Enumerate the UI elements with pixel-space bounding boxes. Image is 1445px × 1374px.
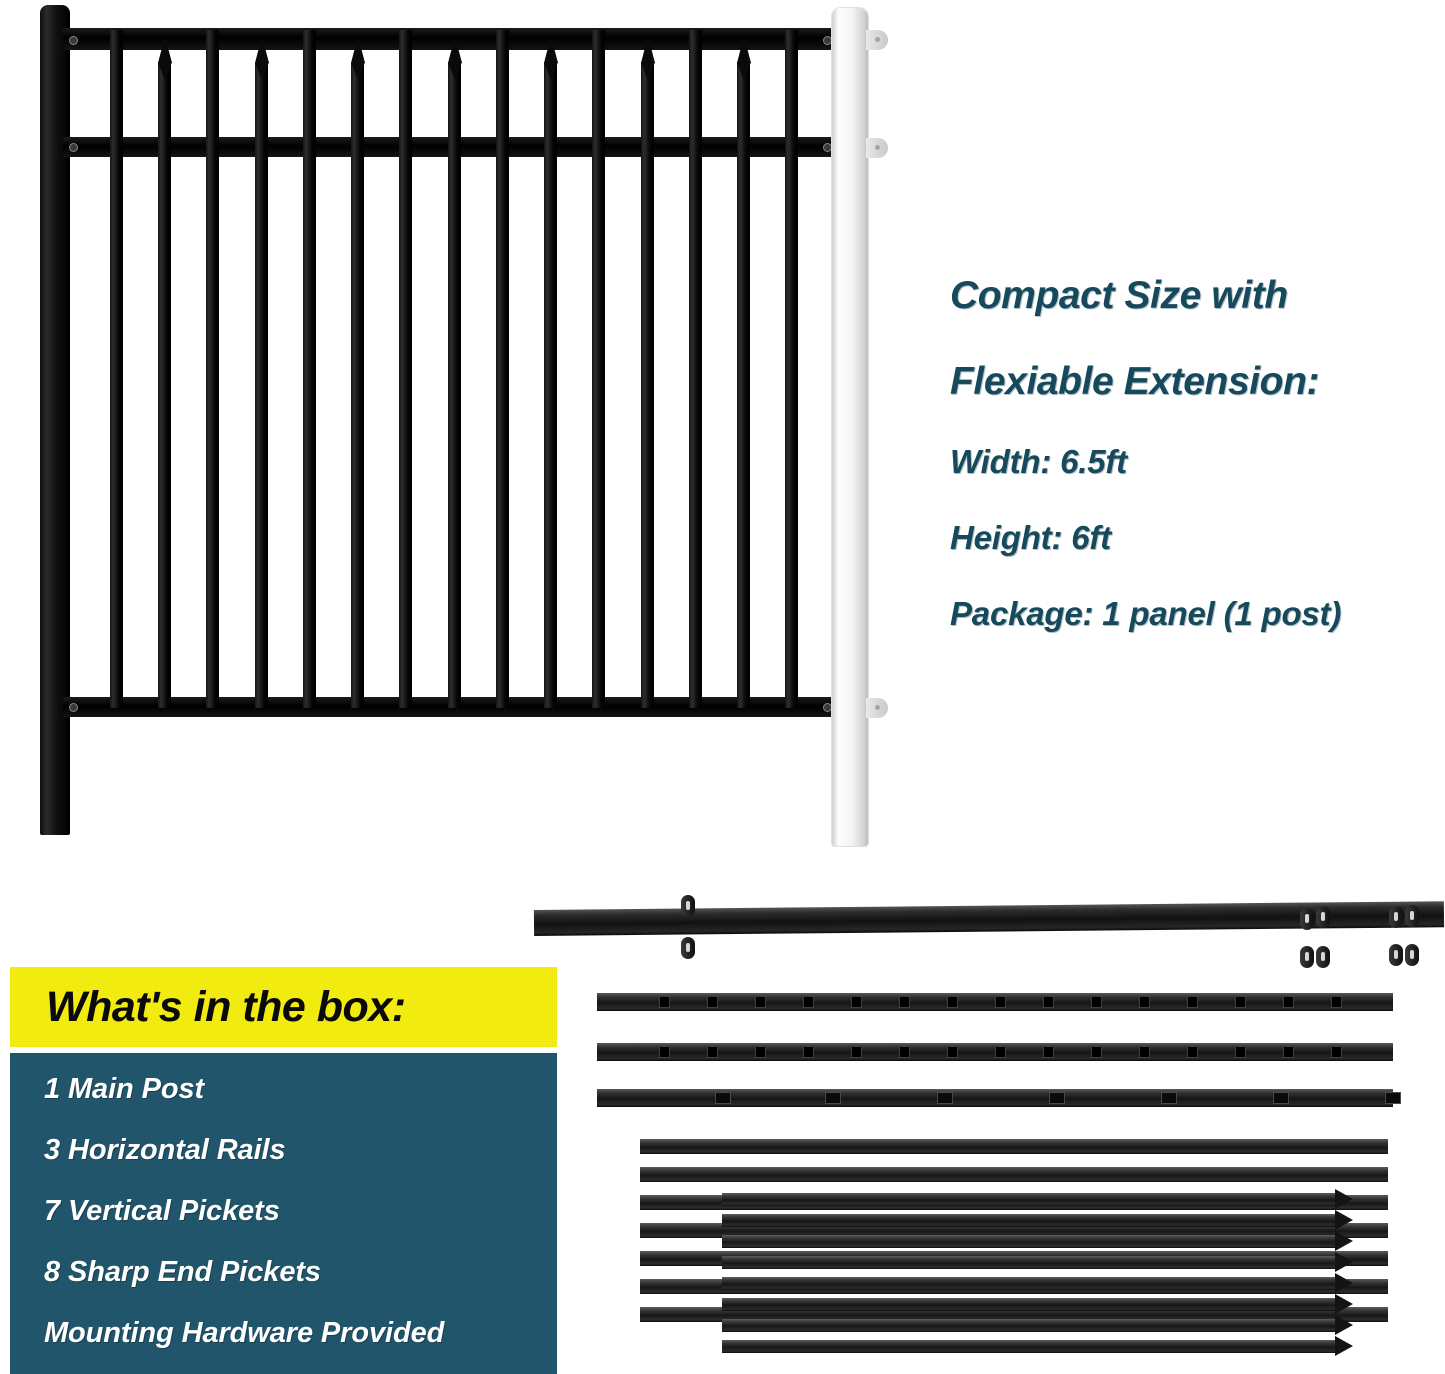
fence-picket bbox=[303, 30, 316, 708]
spec-heading-line-1: Compact Size with bbox=[950, 276, 1420, 315]
fence-spear-picket bbox=[544, 62, 557, 708]
fence-picket bbox=[206, 30, 219, 708]
size-spec-block: Compact Size with Flexiable Extension: W… bbox=[950, 276, 1420, 630]
fence-spear-picket bbox=[448, 62, 461, 708]
part-sharp-end-picket bbox=[722, 1193, 1336, 1206]
product-hero-section: Compact Size with Flexiable Extension: W… bbox=[0, 0, 1445, 880]
whats-in-the-box-title: What's in the box: bbox=[46, 983, 406, 1032]
post-mounting-ear bbox=[866, 698, 888, 718]
assembled-fence-panel bbox=[0, 0, 900, 870]
spec-height: Height: 6ft bbox=[950, 521, 1420, 554]
box-item-mounting-hardware: Mounting Hardware Provided bbox=[44, 1319, 557, 1348]
spec-package: Package: 1 panel (1 post) bbox=[950, 597, 1420, 630]
white-main-post bbox=[832, 8, 868, 846]
post-mounting-ear bbox=[866, 138, 888, 158]
fence-picket bbox=[399, 30, 412, 708]
part-sharp-end-picket bbox=[722, 1277, 1336, 1290]
fence-picket bbox=[689, 30, 702, 708]
whats-in-the-box-banner: What's in the box: bbox=[10, 967, 557, 1047]
whats-in-the-box-section: What's in the box: 1 Main Post 3 Horizon… bbox=[0, 880, 1445, 1363]
part-sharp-end-picket bbox=[722, 1298, 1336, 1311]
part-sharp-end-picket bbox=[722, 1256, 1336, 1269]
box-item-horizontal-rails: 3 Horizontal Rails bbox=[44, 1136, 557, 1165]
fence-spear-picket bbox=[351, 62, 364, 708]
part-sharp-end-picket bbox=[722, 1319, 1336, 1332]
part-sharp-end-picket bbox=[722, 1340, 1336, 1353]
box-item-vertical-pickets: 7 Vertical Pickets bbox=[44, 1197, 557, 1226]
box-item-sharp-end-pickets: 8 Sharp End Pickets bbox=[44, 1258, 557, 1287]
fence-spear-picket bbox=[158, 62, 171, 708]
fence-picket-group bbox=[0, 0, 900, 870]
fence-picket bbox=[592, 30, 605, 708]
fence-picket bbox=[785, 30, 798, 708]
fence-spear-picket bbox=[737, 62, 750, 708]
whats-in-the-box-list: 1 Main Post 3 Horizontal Rails 7 Vertica… bbox=[10, 1053, 557, 1374]
fence-picket bbox=[110, 30, 123, 708]
part-sharp-end-picket bbox=[722, 1214, 1336, 1227]
fence-picket bbox=[496, 30, 509, 708]
fence-spear-picket bbox=[255, 62, 268, 708]
spec-heading-line-2: Flexiable Extension: bbox=[950, 362, 1420, 401]
part-sharp-end-picket bbox=[722, 1235, 1336, 1248]
fence-spear-picket bbox=[641, 62, 654, 708]
spec-width: Width: 6.5ft bbox=[950, 445, 1420, 478]
post-mounting-ear bbox=[866, 30, 888, 50]
whats-in-the-box-card: What's in the box: 1 Main Post 3 Horizon… bbox=[10, 967, 557, 1374]
box-item-main-post: 1 Main Post bbox=[44, 1075, 557, 1104]
